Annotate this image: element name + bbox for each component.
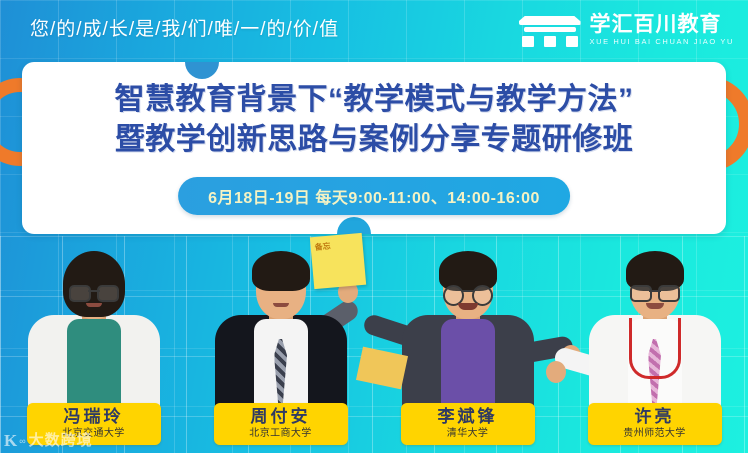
speaker-nameplate-4: 许亮 贵州师范大学 bbox=[588, 403, 722, 445]
speaker-card-4: 许亮 贵州师范大学 bbox=[561, 236, 748, 453]
brand-logo: 学汇百川教育 XUE HUI BAI CHUAN JIAO YU bbox=[517, 8, 734, 52]
sticky-note-prop: 备忘 bbox=[309, 233, 365, 289]
title-card: 智慧教育背景下“教学模式与教学方法” 暨教学创新思路与案例分享专题研修班 6月1… bbox=[22, 62, 726, 234]
speaker-university: 清华大学 bbox=[415, 428, 521, 440]
poster-canvas: 您/的/成/长/是/我/们/唯/一/的/价/值 学汇百川教育 XUE HUI B… bbox=[0, 0, 748, 453]
speaker-card-3: 李斌锋 清华大学 bbox=[374, 236, 561, 453]
speaker-card-2: 备忘 周付安 北京工商大学 bbox=[187, 236, 374, 453]
logo-name-cn: 学汇百川教育 bbox=[590, 14, 734, 35]
glasses-icon bbox=[69, 285, 119, 299]
page-title: 智慧教育背景下“教学模式与教学方法” 暨教学创新思路与案例分享专题研修班 bbox=[22, 80, 726, 160]
speaker-nameplate-3: 李斌锋 清华大学 bbox=[401, 403, 535, 445]
lanyard-prop bbox=[629, 318, 681, 379]
speaker-name: 冯瑞玲 bbox=[41, 407, 147, 427]
speaker-name: 李斌锋 bbox=[415, 407, 521, 427]
card-notch-bottom bbox=[337, 217, 371, 234]
title-line-2: 暨教学创新思路与案例分享专题研修班 bbox=[22, 120, 726, 160]
speaker-university: 北京工商大学 bbox=[228, 428, 334, 440]
speaker-portrait-4 bbox=[580, 247, 730, 419]
date-time-badge: 6月18日-19日 每天9:00-11:00、14:00-16:00 bbox=[178, 177, 570, 215]
speaker-name: 周付安 bbox=[228, 407, 334, 427]
glasses-icon bbox=[630, 285, 680, 299]
gate-torii-mark-icon bbox=[517, 12, 583, 48]
speakers-row: 冯瑞玲 北京交通大学 备忘 周付安 北京工商大 bbox=[0, 236, 748, 453]
speaker-university: 贵州师范大学 bbox=[602, 428, 708, 440]
watermark-infinity-icon: ∞ bbox=[19, 436, 24, 446]
glasses-icon bbox=[443, 285, 493, 299]
speaker-portrait-1 bbox=[19, 247, 169, 419]
speaker-portrait-2: 备忘 bbox=[206, 247, 356, 419]
speaker-card-1: 冯瑞玲 北京交通大学 bbox=[0, 236, 187, 453]
logo-name-pinyin: XUE HUI BAI CHUAN JIAO YU bbox=[590, 38, 734, 46]
watermark-text: 大数跨境 bbox=[29, 433, 93, 448]
title-line-1: 智慧教育背景下“教学模式与教学方法” bbox=[115, 83, 634, 116]
speaker-portrait-3 bbox=[393, 247, 543, 419]
slogan-text: 您/的/成/长/是/我/们/唯/一/的/价/值 bbox=[30, 14, 339, 41]
speaker-nameplate-2: 周付安 北京工商大学 bbox=[214, 403, 348, 445]
speaker-name: 许亮 bbox=[602, 407, 708, 427]
watermark-k-mark: K bbox=[4, 432, 17, 449]
card-notch-top bbox=[185, 62, 219, 79]
watermark: K ∞ 大数跨境 bbox=[4, 432, 93, 449]
